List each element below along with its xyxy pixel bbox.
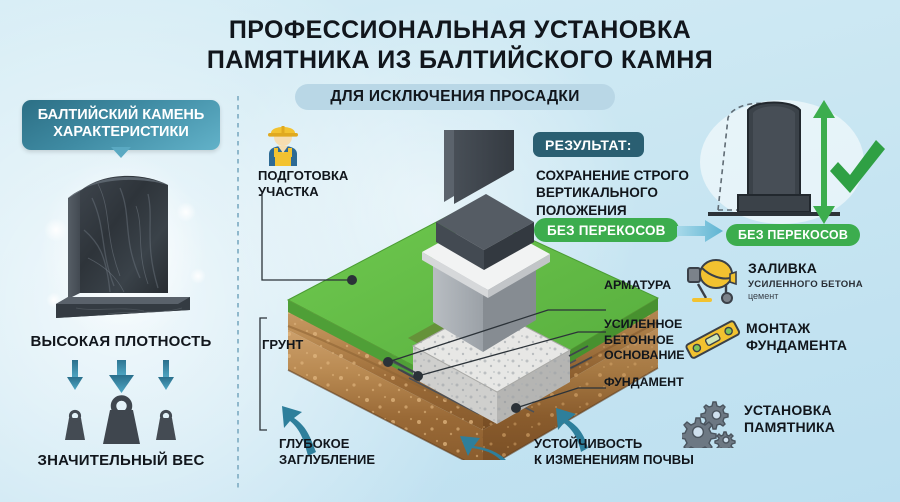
- arrow-down-icon: [67, 360, 83, 390]
- stable-label: УСТОЙЧИВОСТЬ К ИЗМЕНЕНИЯМ ПОЧВЫ: [534, 436, 702, 469]
- result-text: СОХРАНЕНИЕ СТРОГО ВЕРТИКАЛЬНОГО ПОЛОЖЕНИ…: [536, 167, 706, 219]
- step-title-line-1: УСТАНОВКА: [744, 402, 864, 419]
- deep-line-2: ЗАГЛУБЛЕНИЕ: [279, 452, 389, 468]
- step-title-line-1: МОНТАЖ: [746, 320, 866, 337]
- leader-dot: [347, 275, 357, 285]
- no-skew-pill-right: БЕЗ ПЕРЕКОСОВ: [726, 224, 860, 246]
- result-line-2: ВЕРТИКАЛЬНОГО: [536, 184, 706, 201]
- foundation-label: ФУНДАМЕНТ: [604, 375, 684, 391]
- result-line-3: ПОЛОЖЕНИЯ: [536, 202, 706, 219]
- step-title: ЗАЛИВКА: [748, 260, 868, 277]
- infographic-canvas: ПРОФЕССИОНАЛЬНАЯ УСТАНОВКА ПАМЯТНИКА ИЗ …: [0, 0, 900, 502]
- base-line-2: БЕТОННОЕ: [604, 333, 696, 349]
- cement-mixer-icon: [686, 258, 740, 304]
- leader-dot: [511, 403, 521, 413]
- rebar-label: АРМАТУРА: [604, 278, 671, 294]
- granite-monument-icon: [48, 158, 204, 330]
- arrow-down-icon: [158, 360, 174, 390]
- step-subtitle-2: цемент: [748, 291, 868, 301]
- badge-line-1: БАЛТИЙСКИЙ КАМЕНЬ: [28, 107, 214, 124]
- page-title: ПРОФЕССИОНАЛЬНАЯ УСТАНОВКА ПАМЯТНИКА ИЗ …: [160, 16, 760, 75]
- base-line-1: УСИЛЕННОЕ: [604, 317, 696, 333]
- step-title-line-2: ФУНДАМЕНТА: [746, 337, 866, 354]
- weights-group: [56, 360, 188, 446]
- upright-monument-panel: [700, 96, 890, 228]
- subtitle-pill: ДЛЯ ИСКЛЮЧЕНИЯ ПРОСАДКИ: [295, 84, 615, 110]
- leader-dot: [413, 371, 423, 381]
- result-line-1: СОХРАНЕНИЕ СТРОГО: [536, 167, 706, 184]
- density-label: ВЫСОКАЯ ПЛОТНОСТЬ: [18, 333, 224, 350]
- weight-icon: [103, 398, 140, 444]
- ground-label: ГРУНТ: [262, 337, 310, 352]
- no-skew-pill-left: БЕЗ ПЕРЕКОСОВ: [534, 218, 679, 242]
- weight-icon: [156, 411, 176, 440]
- step-title-line-2: ПАМЯТНИКА: [744, 419, 864, 436]
- base-label: УСИЛЕННОЕ БЕТОННОЕ ОСНОВАНИЕ: [604, 317, 696, 364]
- vertical-dotted-divider: [237, 96, 239, 488]
- gears-icon: [682, 396, 740, 448]
- result-badge: РЕЗУЛЬТАТ:: [533, 132, 644, 157]
- leader-dot: [383, 357, 393, 367]
- deep-label: ГЛУБОКОЕ ЗАГЛУБЛЕНИЕ: [279, 436, 389, 469]
- weight-label: ЗНАЧИТЕЛЬНЫЙ ВЕС: [14, 452, 228, 469]
- step-subtitle: УСИЛЕННОГО БЕТОНА: [748, 279, 868, 290]
- badge-line-2: ХАРАКТЕРИСТИКИ: [28, 124, 214, 141]
- stable-line-1: УСТОЙЧИВОСТЬ: [534, 436, 702, 452]
- spirit-level-icon: [684, 316, 742, 364]
- stable-line-2: К ИЗМЕНЕНИЯМ ПОЧВЫ: [534, 452, 702, 468]
- base-line-3: ОСНОВАНИЕ: [604, 348, 696, 364]
- title-line-1: ПРОФЕССИОНАЛЬНАЯ УСТАНОВКА: [160, 16, 760, 46]
- arrow-down-icon: [109, 360, 134, 393]
- title-line-2: ПАМЯТНИКА ИЗ БАЛТИЙСКОГО КАМНЯ: [160, 46, 760, 76]
- weight-icon: [65, 411, 85, 440]
- deep-line-1: ГЛУБОКОЕ: [279, 436, 389, 452]
- left-panel-badge: БАЛТИЙСКИЙ КАМЕНЬ ХАРАКТЕРИСТИКИ: [22, 100, 220, 150]
